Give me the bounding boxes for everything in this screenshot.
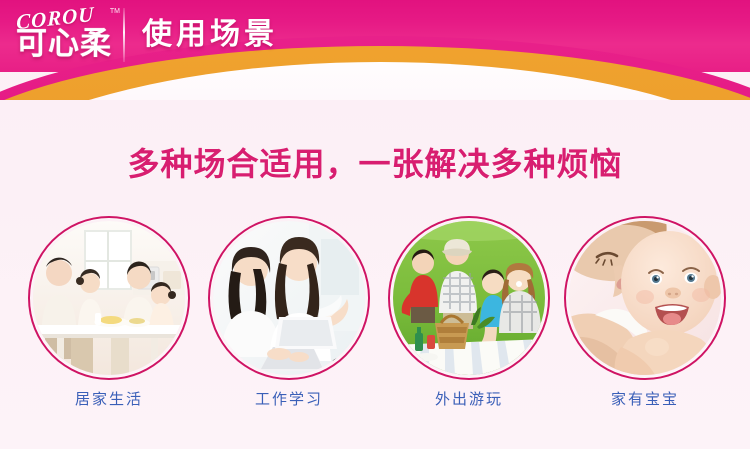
scene-caption-has-baby: 家有宝宝 xyxy=(564,388,726,410)
page-headline: 多种场合适用，一张解决多种烦恼 xyxy=(0,144,750,184)
header-divider xyxy=(123,8,125,62)
scene-ring xyxy=(208,216,370,380)
scene-card-work-study[interactable]: 工作学习 xyxy=(208,216,370,380)
scene-card-list: 居家生活 xyxy=(0,216,750,386)
scene-card-home-life[interactable]: 居家生活 xyxy=(28,216,190,380)
scene-card-has-baby[interactable]: 家有宝宝 xyxy=(564,216,726,380)
scene-ring xyxy=(28,216,190,380)
trademark-icon: TM xyxy=(110,8,120,15)
scene-caption-work-study: 工作学习 xyxy=(208,388,370,410)
scene-card-outdoor-trip[interactable]: 外出游玩 xyxy=(388,216,550,380)
banner-header: COROU TM 可心柔 使用场景 xyxy=(0,0,750,100)
scene-ring xyxy=(564,216,726,380)
scene-caption-outdoor-trip: 外出游玩 xyxy=(388,388,550,410)
scene-ring xyxy=(388,216,550,380)
brand-logo[interactable]: COROU TM 可心柔 xyxy=(10,4,118,68)
promo-banner: COROU TM 可心柔 使用场景 多种场合适用，一张解决多种烦恼 xyxy=(0,0,750,449)
header-title: 使用场景 xyxy=(142,14,278,56)
brand-logo-chinese: 可心柔 xyxy=(10,24,118,64)
scene-caption-home-life: 居家生活 xyxy=(28,388,190,410)
